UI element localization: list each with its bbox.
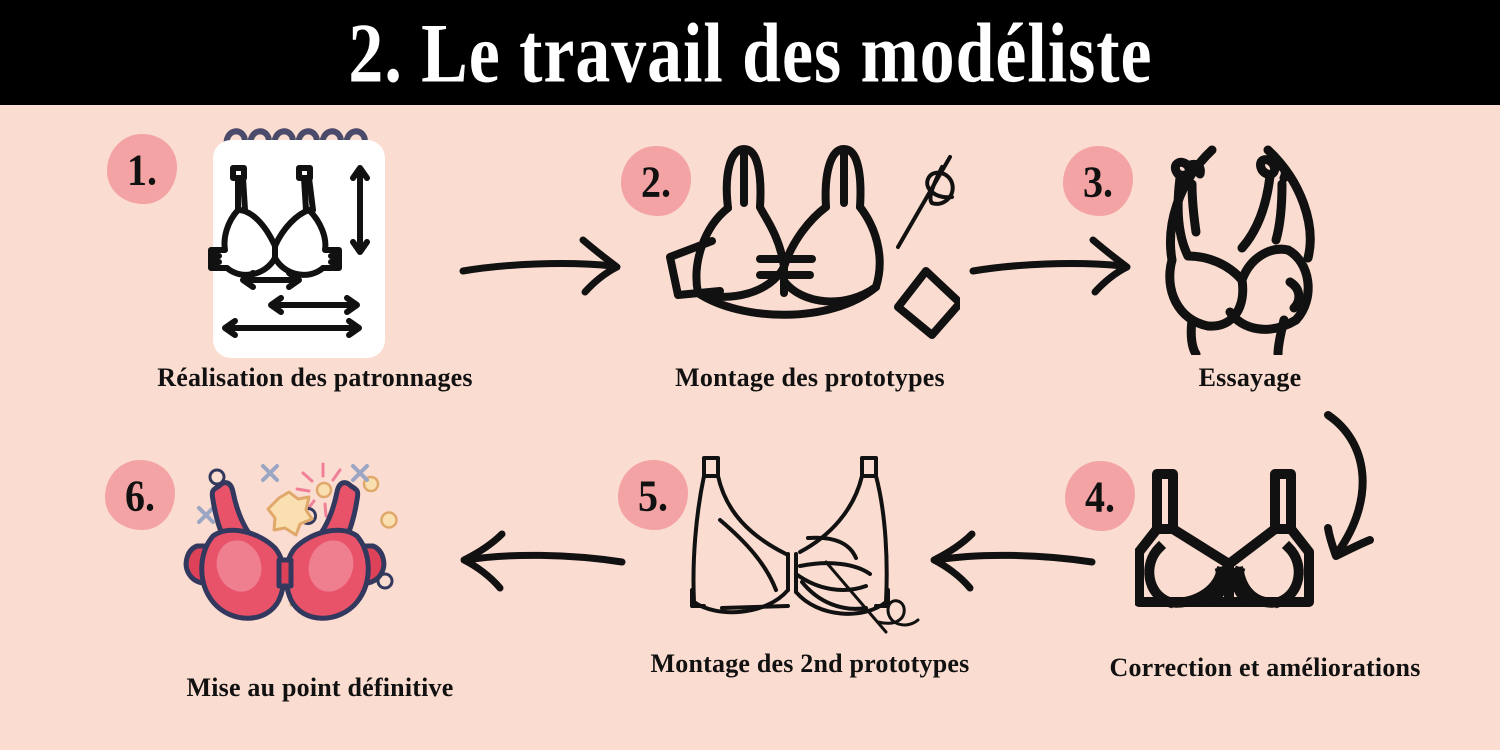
step-4-number: 4. (1085, 470, 1115, 523)
step-3-caption: Essayage (1060, 362, 1440, 394)
bra-outline-with-needle-icon (660, 135, 960, 355)
arrow-step1-to-step2 (455, 228, 635, 303)
step-5-caption: Montage des 2nd prototypes (645, 648, 975, 680)
page-title: 2. Le travail des modéliste (348, 10, 1152, 95)
step-5-number: 5. (638, 469, 668, 522)
finished-red-bra-with-sparkles-icon (175, 440, 435, 660)
step-6-badge: 6. (102, 457, 178, 533)
arrow-step2-to-step3 (965, 228, 1145, 303)
torso-wearing-bra-sketch-icon (1130, 140, 1350, 360)
thin-bra-outline-with-thread-icon (690, 450, 950, 645)
step-4-caption: Correction et améliorations (1100, 652, 1430, 684)
bold-bra-outline-icon (1135, 468, 1330, 623)
step-1-number: 1. (127, 143, 157, 196)
step-6-caption: Mise au point définitive (70, 672, 570, 704)
step-6-number: 6. (125, 469, 155, 522)
step-2-number: 2. (641, 155, 671, 208)
step-3-number: 3. (1083, 155, 1113, 208)
notepad-with-bra-measurements-icon (205, 118, 400, 368)
step-1-caption: Réalisation des patronnages (60, 362, 570, 394)
step-2-caption: Montage des prototypes (575, 362, 1045, 394)
header-bar: 2. Le travail des modéliste (0, 0, 1500, 105)
step-1-badge: 1. (104, 131, 180, 207)
step-3-badge: 3. (1060, 143, 1136, 219)
arrow-step5-to-step6 (450, 520, 630, 605)
infographic-canvas: 2. Le travail des modéliste 1. (0, 0, 1500, 750)
